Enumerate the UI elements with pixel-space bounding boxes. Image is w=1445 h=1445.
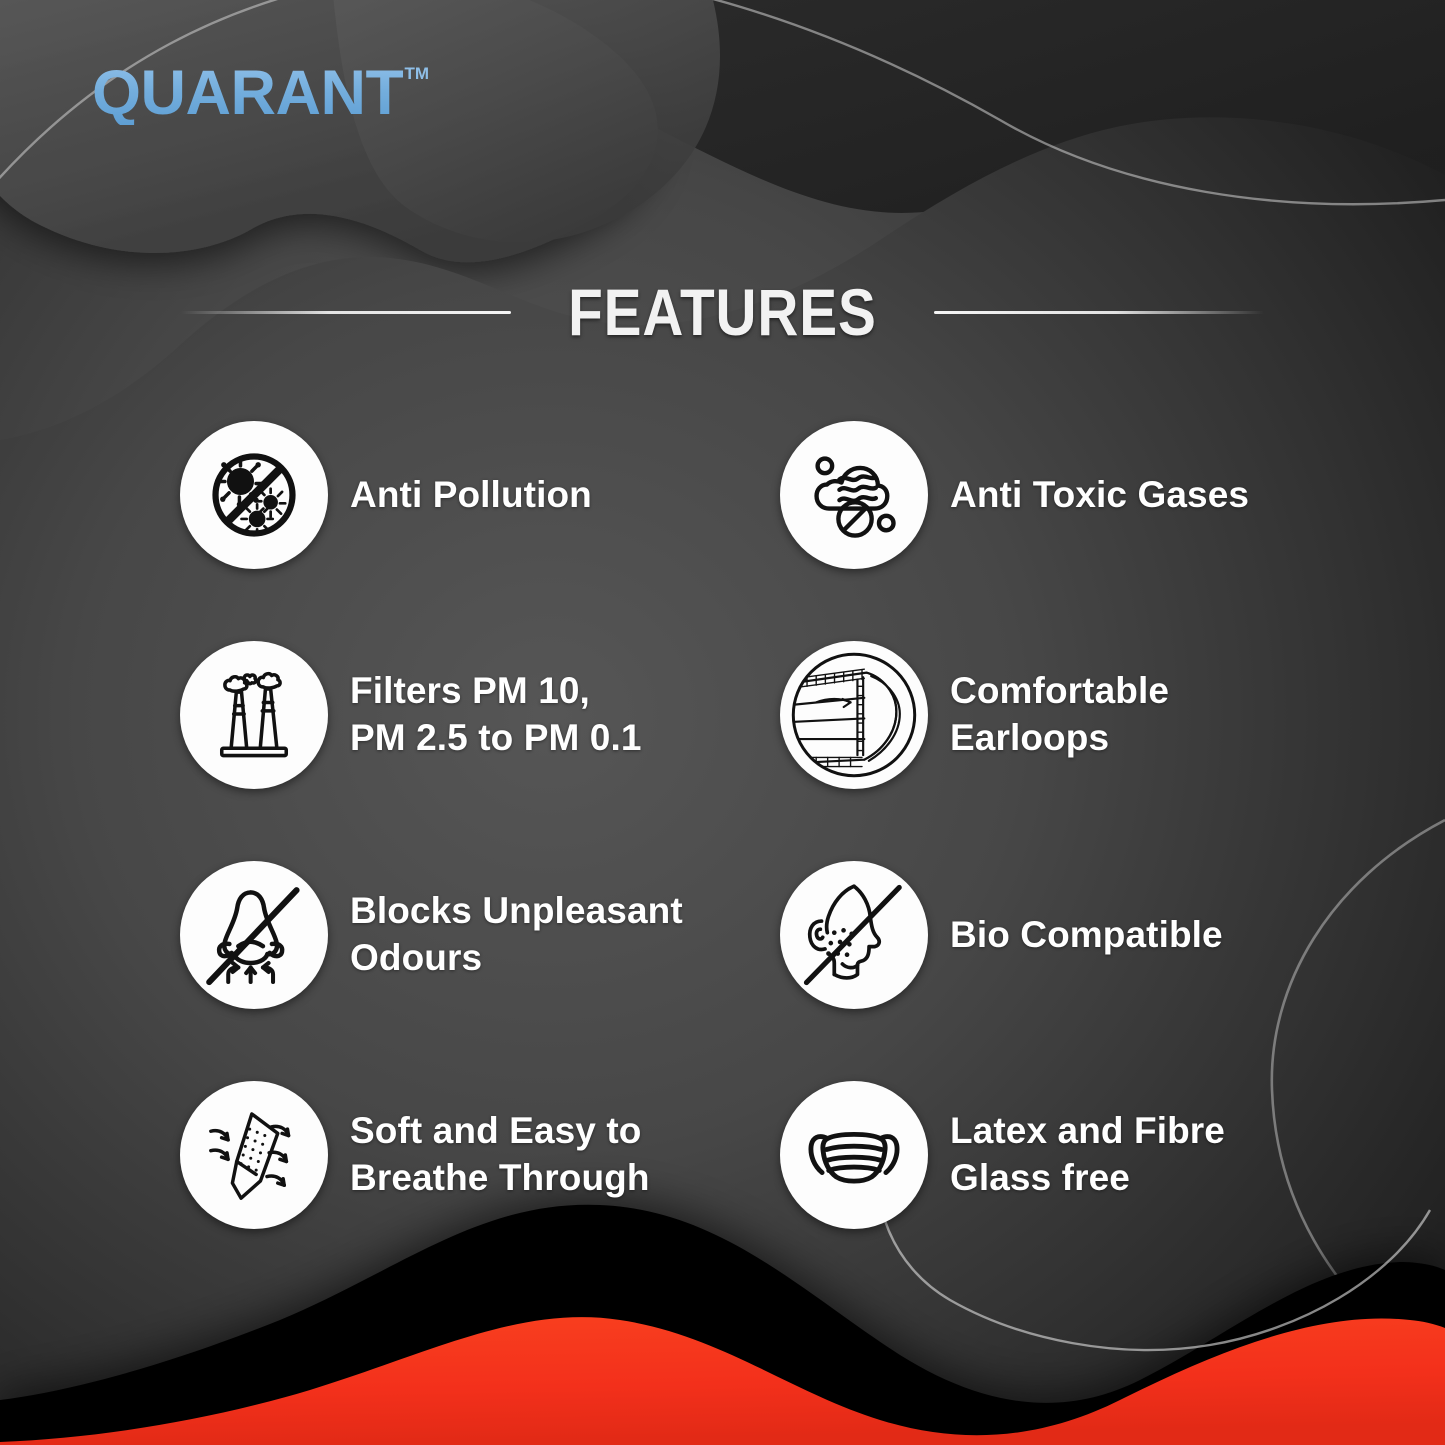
feature-item-comfortable-earloops: Comfortable Earloops <box>780 605 1330 825</box>
feature-item-breathable: Soft and Easy to Breathe Through <box>180 1045 780 1265</box>
page-title: FEATURES <box>541 274 905 350</box>
heading-rule-left <box>181 311 511 314</box>
feature-label: Latex and Fibre Glass free <box>950 1108 1225 1202</box>
feature-label: Bio Compatible <box>950 912 1223 959</box>
breathable-fabric-airflow-icon <box>180 1081 328 1229</box>
toxic-gas-cloud-icon <box>780 421 928 569</box>
mask-earloop-detail-icon <box>780 641 928 789</box>
feature-label: Soft and Easy to Breathe Through <box>350 1108 650 1202</box>
feature-item-anti-toxic-gases: Anti Toxic Gases <box>780 385 1330 605</box>
feature-item-filters-pm: Filters PM 10, PM 2.5 to PM 0.1 <box>180 605 780 825</box>
brand-logo: QUARANT TM <box>92 62 429 125</box>
feature-item-latex-free: Latex and Fibre Glass free <box>780 1045 1330 1265</box>
feature-item-anti-pollution: Anti Pollution <box>180 385 780 605</box>
feature-item-blocks-odours: Blocks Unpleasant Odours <box>180 825 780 1045</box>
factory-smokestack-icon <box>180 641 328 789</box>
feature-label: Filters PM 10, PM 2.5 to PM 0.1 <box>350 668 642 762</box>
feature-label: Comfortable Earloops <box>950 668 1169 762</box>
feature-label: Anti Pollution <box>350 472 592 519</box>
heading-rule-right <box>934 311 1264 314</box>
feature-item-bio-compatible: Bio Compatible <box>780 825 1330 1045</box>
features-grid: Anti Pollution Anti <box>180 385 1330 1265</box>
poster-canvas: QUARANT TM FEATURES <box>0 0 1445 1445</box>
section-heading: FEATURES <box>0 272 1445 352</box>
no-odour-nose-icon <box>180 861 328 1009</box>
feature-label: Anti Toxic Gases <box>950 472 1249 519</box>
anti-pollution-germs-icon <box>180 421 328 569</box>
trademark-symbol: TM <box>404 64 429 84</box>
feature-label: Blocks Unpleasant Odours <box>350 888 683 982</box>
face-mask-icon <box>780 1081 928 1229</box>
brand-name: QUARANT <box>92 62 403 125</box>
no-skin-irritation-face-icon <box>780 861 928 1009</box>
